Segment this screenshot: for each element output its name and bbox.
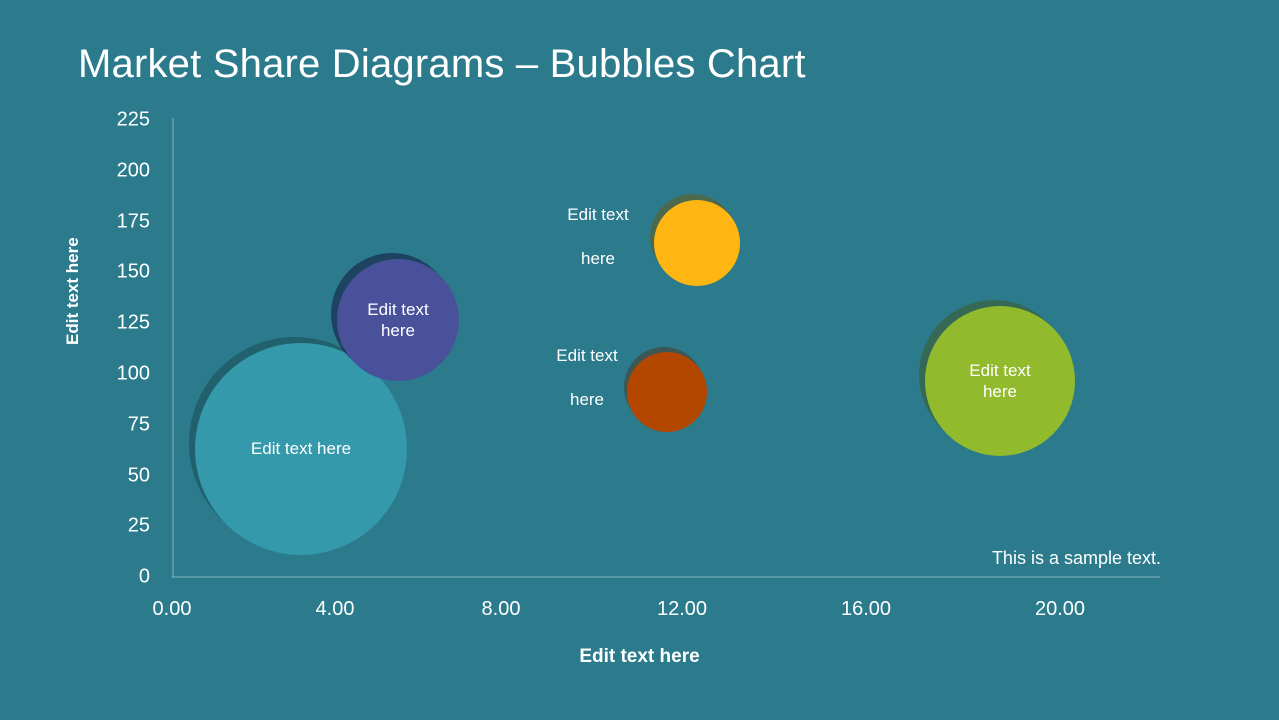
- y-axis-tick-75: 75: [90, 414, 150, 437]
- bubble-brown-label-line2: here: [570, 390, 604, 409]
- y-axis-tick-100: 100: [90, 363, 150, 386]
- y-axis-tick-50: 50: [90, 465, 150, 488]
- bubble-green-label: Edit text here: [963, 360, 1036, 403]
- x-axis-tick-20: 20.00: [1015, 598, 1105, 621]
- bubble-orange-label: Edit text here: [538, 182, 658, 270]
- y-axis-tick-150: 150: [90, 261, 150, 284]
- bubble-brown-label: Edit text here: [527, 323, 647, 411]
- bubble-brown-label-line1: Edit text: [556, 346, 617, 365]
- bubble-green-label-line1: Edit text: [969, 361, 1030, 380]
- y-axis-tick-225: 225: [90, 109, 150, 132]
- bubble-purple-label: Edit text here: [361, 299, 434, 342]
- y-axis-tick-25: 25: [90, 515, 150, 538]
- x-axis-tick-0: 0.00: [127, 598, 217, 621]
- bubble-green-label-line2: here: [983, 382, 1017, 401]
- bubble-purple-label-line1: Edit text: [367, 300, 428, 319]
- bubble-purple-label-line2: here: [381, 321, 415, 340]
- bubble-orange-label-line2: here: [581, 249, 615, 268]
- y-axis-tick-175: 175: [90, 211, 150, 234]
- bubble-purple[interactable]: Edit text here: [337, 259, 459, 381]
- x-axis-tick-8: 8.00: [456, 598, 546, 621]
- x-axis-tick-12: 12.00: [637, 598, 727, 621]
- bubble-teal-label: Edit text here: [245, 438, 357, 459]
- x-axis-title: Edit text here: [0, 646, 1279, 668]
- slide-canvas: Market Share Diagrams – Bubbles Chart 22…: [0, 0, 1279, 720]
- y-axis-tick-200: 200: [90, 160, 150, 183]
- x-axis-tick-4: 4.00: [290, 598, 380, 621]
- x-axis-tick-16: 16.00: [821, 598, 911, 621]
- bubble-orange[interactable]: [654, 200, 740, 286]
- y-axis-tick-0: 0: [90, 566, 150, 589]
- bubble-green[interactable]: Edit text here: [925, 306, 1075, 456]
- bubble-orange-label-line1: Edit text: [567, 205, 628, 224]
- y-axis-line: [172, 118, 174, 577]
- y-axis-title: Edit text here: [63, 237, 83, 345]
- page-title: Market Share Diagrams – Bubbles Chart: [78, 42, 806, 87]
- y-axis-tick-125: 125: [90, 312, 150, 335]
- x-axis-line: [172, 576, 1160, 578]
- sample-text: This is a sample text.: [992, 548, 1161, 569]
